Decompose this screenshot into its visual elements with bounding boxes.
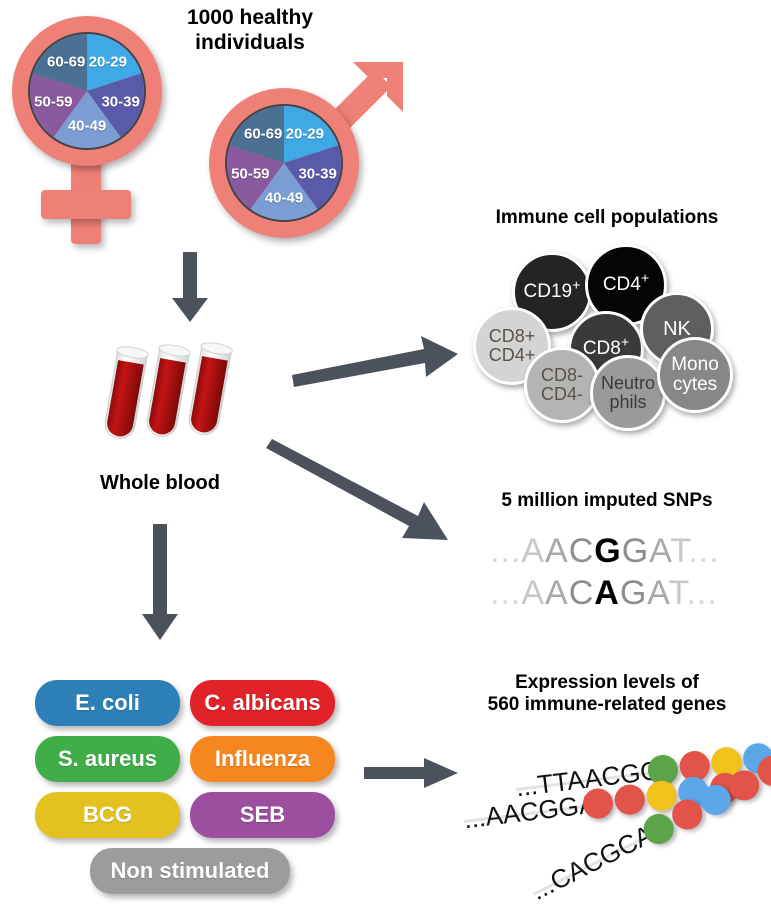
arrow-cohort-to-blood xyxy=(170,252,210,324)
arrow-stimuli-to-expression xyxy=(364,756,460,790)
pie-slice-label-60-69: 60-69 xyxy=(244,126,282,143)
snp-base: C xyxy=(569,574,595,612)
stimulus-label: SEB xyxy=(240,802,285,828)
stimulus-label: S. aureus xyxy=(58,746,157,772)
snp-variant-base: G xyxy=(594,532,621,570)
arrow-blood-to-stimuli xyxy=(140,524,180,642)
stimulus-label: Non stimulated xyxy=(111,858,270,884)
stimulus-c-albicans[interactable]: C. albicans xyxy=(190,680,335,726)
marker-superscript: + xyxy=(621,335,629,351)
stimulus-influenza[interactable]: Influenza xyxy=(190,736,335,782)
immune-cell-label: NK xyxy=(663,319,691,340)
pie-slice-label-50-59: 50-59 xyxy=(34,93,72,110)
snp-base: T xyxy=(670,532,688,570)
pie-slice-label-40-49: 40-49 xyxy=(68,118,106,135)
snp-prefix-ellipsis: ... xyxy=(490,532,521,570)
blood-tube xyxy=(102,345,149,441)
pie-slice-label-20-29: 20-29 xyxy=(89,54,127,71)
stimulus-label: C. albicans xyxy=(204,690,320,716)
page-title: 1000 healthy individuals xyxy=(160,6,340,56)
immune-cell-label: CD8- CD4- xyxy=(541,366,583,404)
expression-section-title: Expression levels of 560 immune-related … xyxy=(452,672,762,717)
immune-cell-neutrophils: Neutro phils xyxy=(590,355,666,431)
immune-cell-cd8cd4: CD8- CD4- xyxy=(524,347,600,423)
arrow-blood-to-immune xyxy=(292,325,460,387)
snp-base: T xyxy=(668,574,686,612)
snp-sequence-row: ...AACGGAT... xyxy=(490,532,720,571)
pie-slice-label-40-49: 40-49 xyxy=(265,190,303,207)
female-stem-cross xyxy=(41,190,131,219)
whole-blood-label: Whole blood xyxy=(75,472,245,496)
pie-slice-label-50-59: 50-59 xyxy=(231,165,269,182)
pie-slice-label-30-39: 30-39 xyxy=(298,165,336,182)
marker-superscript: + xyxy=(641,271,649,287)
snp-base: A xyxy=(545,574,569,612)
snp-section-title: 5 million imputed SNPs xyxy=(452,490,762,512)
snp-base: G xyxy=(622,532,649,570)
blood-tube xyxy=(144,343,191,439)
snp-base: A xyxy=(521,532,545,570)
whole-blood-tubes xyxy=(100,340,270,460)
stimulus-s-aureus[interactable]: S. aureus xyxy=(35,736,180,782)
snp-base: A xyxy=(649,532,670,570)
stimulus-e-coli[interactable]: E. coli xyxy=(35,680,180,726)
immune-cell-label: Neutro phils xyxy=(601,374,655,412)
stimulus-non-stimulated[interactable]: Non stimulated xyxy=(90,848,290,894)
pie-slice-label-60-69: 60-69 xyxy=(47,54,85,71)
stimulus-seb[interactable]: SEB xyxy=(190,792,335,838)
snp-base: A xyxy=(521,574,545,612)
female-symbol: 20-2930-3940-4950-5960-69 xyxy=(8,12,178,242)
stimulus-label: BCG xyxy=(83,802,132,828)
blood-tube xyxy=(186,341,233,437)
immune-cell-monocytes: Mono cytes xyxy=(657,337,733,413)
snp-variant-base: A xyxy=(594,574,620,612)
stimulus-bcg[interactable]: BCG xyxy=(35,792,180,838)
arrow-blood-to-snps xyxy=(266,448,456,546)
stimulus-label: E. coli xyxy=(75,690,140,716)
marker-superscript: + xyxy=(572,278,580,294)
blood-tubes-svg xyxy=(100,340,270,460)
male-symbol: 20-2930-3940-4950-5960-69 xyxy=(205,60,415,250)
immune-section-title: Immune cell populations xyxy=(452,207,762,229)
snp-base: A xyxy=(545,532,569,570)
snp-base: C xyxy=(569,532,595,570)
immune-cell-label: CD19+ xyxy=(524,282,581,302)
snp-suffix-ellipsis: ... xyxy=(688,532,719,570)
snp-suffix-ellipsis: ... xyxy=(686,574,717,612)
snp-base: G xyxy=(620,574,647,612)
immune-cell-label: Mono cytes xyxy=(671,355,719,395)
expression-bead xyxy=(613,783,646,816)
snp-sequence-row: ...AACAGAT... xyxy=(490,574,718,613)
stimulus-label: Influenza xyxy=(215,746,310,772)
figure-canvas: 1000 healthy individuals 20-2930-3940-49… xyxy=(0,0,771,922)
immune-cell-label: CD8+ CD4+ xyxy=(489,327,536,365)
immune-cell-label: CD4+ xyxy=(603,275,649,295)
snp-base: A xyxy=(647,574,668,612)
pie-slice-label-30-39: 30-39 xyxy=(101,93,139,110)
pie-slice-label-20-29: 20-29 xyxy=(286,126,324,143)
snp-prefix-ellipsis: ... xyxy=(490,574,521,612)
